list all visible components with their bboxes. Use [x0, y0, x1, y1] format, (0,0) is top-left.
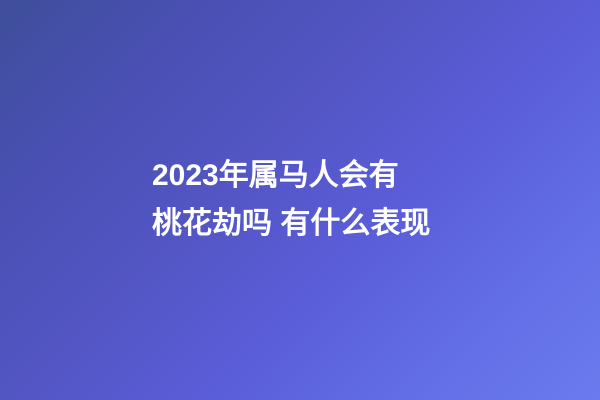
title-line-2: 桃花劫吗 有什么表现: [152, 200, 452, 248]
page-title: 2023年属马人会有 桃花劫吗 有什么表现: [152, 152, 452, 248]
gradient-poster: 2023年属马人会有 桃花劫吗 有什么表现: [0, 0, 600, 400]
title-line-1: 2023年属马人会有: [152, 152, 452, 200]
